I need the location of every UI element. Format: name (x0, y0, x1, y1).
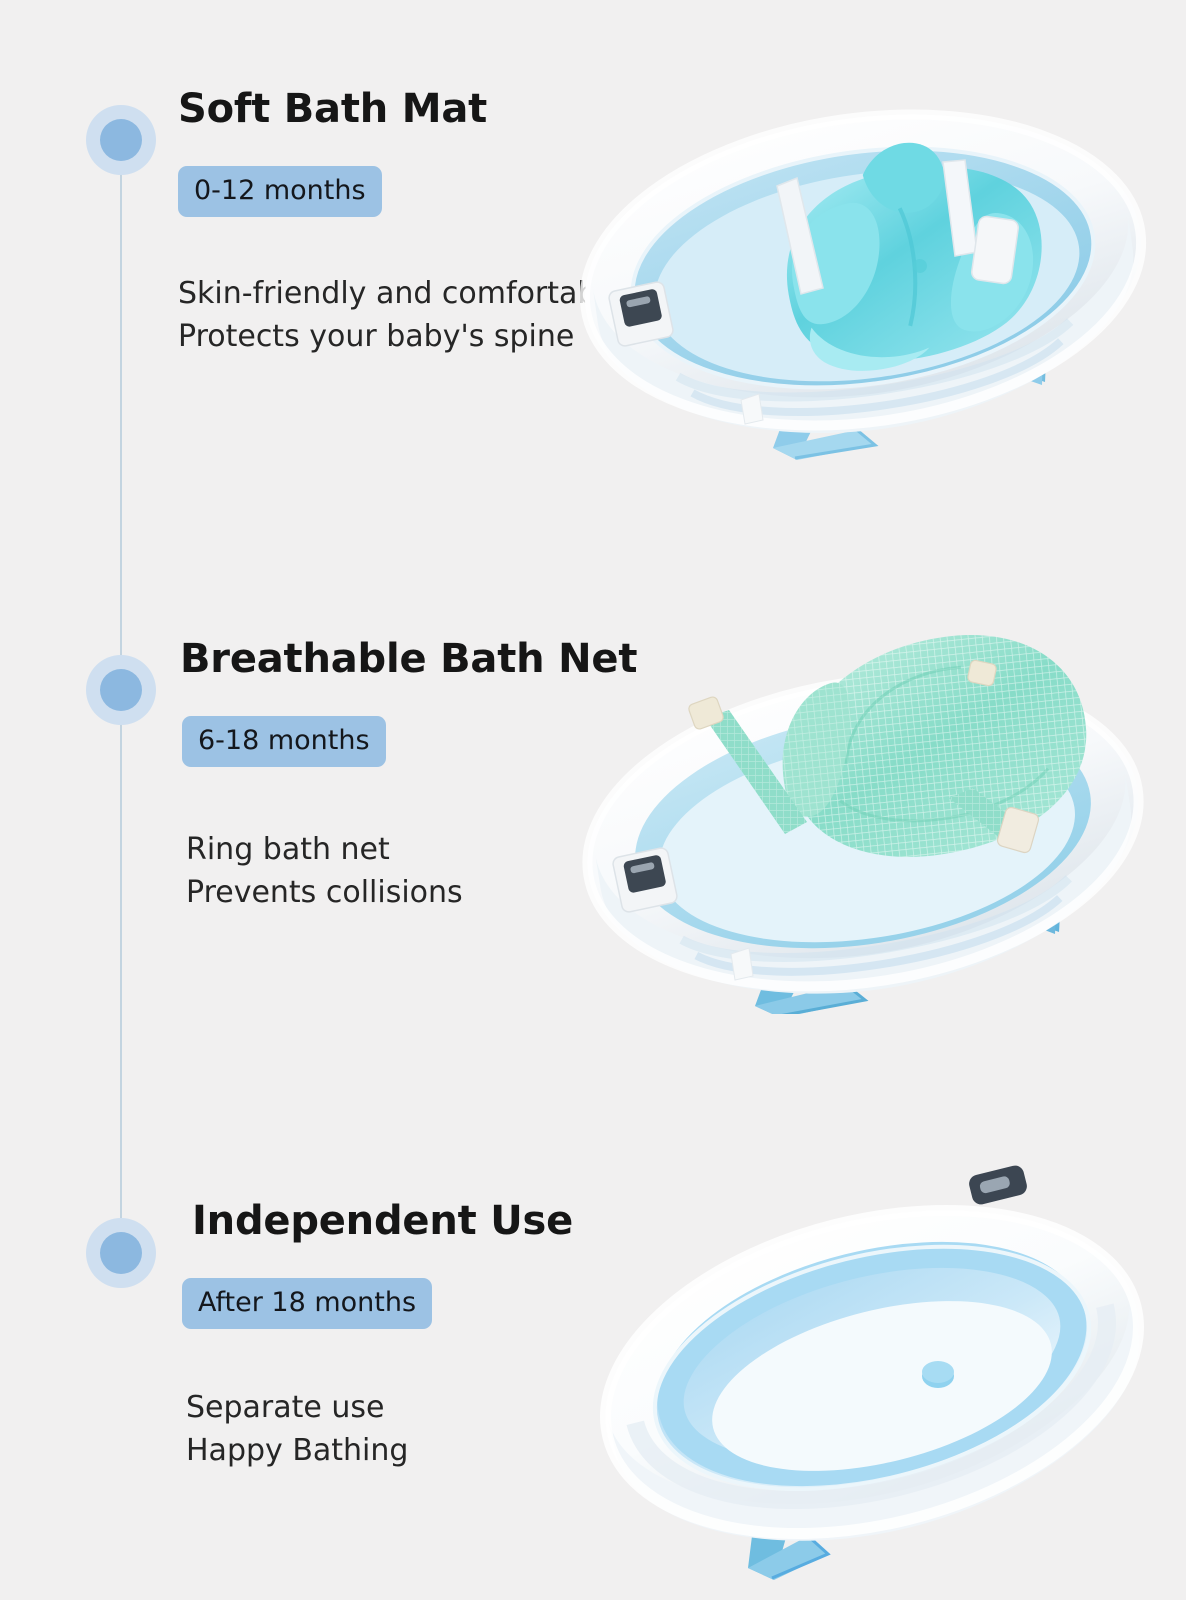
timeline-marker-1 (86, 105, 156, 175)
age-badge-row: After 18 months (182, 1278, 738, 1329)
cushion-mat (774, 138, 1056, 379)
mesh-bath-net (774, 623, 1098, 869)
feature-section-soft-bath-mat: Soft Bath Mat 0-12 months Skin-friendly … (0, 86, 1186, 506)
infographic-page: Soft Bath Mat 0-12 months Skin-friendly … (0, 0, 1186, 1600)
timeline-dot-icon (100, 1232, 142, 1274)
feature-heading: Independent Use (192, 1198, 738, 1244)
tub-legs (755, 804, 1065, 1014)
tub-legs (748, 1362, 1072, 1580)
age-badge: After 18 months (182, 1278, 432, 1329)
timeline-dot-icon (100, 669, 142, 711)
timeline-marker-3 (86, 1218, 156, 1288)
timeline-dot-icon (100, 119, 142, 161)
tub-straps (777, 160, 1019, 294)
feature-section-breathable-bath-net: Breathable Bath Net 6-18 months Ring bat… (0, 636, 1186, 1056)
age-badge-row: 6-18 months (182, 716, 738, 767)
tub-pleats (678, 322, 1078, 434)
feature-heading: Soft Bath Mat (178, 86, 738, 132)
age-badge: 0-12 months (178, 166, 382, 217)
feature-heading: Breathable Bath Net (180, 636, 738, 682)
feature-description: Ring bath net Prevents collisions (186, 829, 738, 914)
tub-legs (773, 245, 1050, 460)
age-badge: 6-18 months (182, 716, 386, 767)
feature-text-3: Independent Use After 18 months Separate… (178, 1198, 738, 1472)
thermometer-icon (967, 1164, 1029, 1207)
drain-plug-icon (922, 1361, 954, 1388)
age-badge-row: 0-12 months (178, 166, 738, 217)
tub-pleats (682, 878, 1078, 994)
timeline-marker-2 (86, 655, 156, 725)
feature-section-independent-use: Independent Use After 18 months Separate… (0, 1190, 1186, 1590)
feature-text-1: Soft Bath Mat 0-12 months Skin-friendly … (178, 86, 738, 358)
feature-text-2: Breathable Bath Net 6-18 months Ring bat… (178, 636, 738, 914)
feature-description: Skin-friendly and comfortable Protects y… (178, 273, 738, 358)
feature-description: Separate use Happy Bathing (186, 1387, 738, 1472)
net-straps (687, 660, 1039, 854)
